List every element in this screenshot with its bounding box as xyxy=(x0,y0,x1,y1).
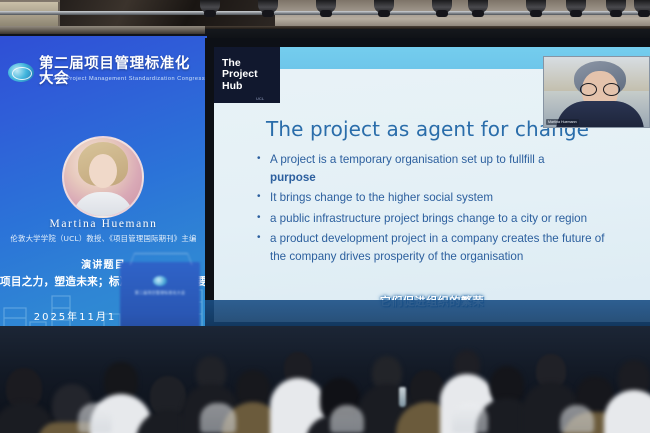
slide-bullet: a public infrastructure project brings c… xyxy=(270,210,606,228)
slide-bullet-emphasis: purpose xyxy=(270,171,316,184)
speaker-role: 伦敦大学学院（UCL）教授、《项目管理国际期刊》主编 xyxy=(0,233,207,244)
project-hub-logo: The Project Hub UCL xyxy=(214,47,280,103)
podium-label: 第二届项目管理标准化大会 xyxy=(120,290,200,296)
conference-room-photo: 第二届项目管理标准化大会 The 2nd Project Management … xyxy=(0,0,650,433)
spotlight-icon xyxy=(606,0,626,13)
participant-name-label: Martina Huemann xyxy=(546,119,579,125)
video-call-tile: Martina Huemann xyxy=(543,56,650,128)
audience-chair xyxy=(330,405,364,433)
spotlight-icon xyxy=(316,0,336,13)
spotlight-icon xyxy=(432,0,452,13)
audience-chair xyxy=(560,405,594,433)
spotlight-icon xyxy=(468,0,488,13)
projection-screen: The Project Hub UCL The project as agent… xyxy=(205,38,650,326)
spotlight-icon xyxy=(200,0,220,13)
spotlight-icon xyxy=(258,0,278,13)
congress-emblem-icon xyxy=(153,276,167,286)
water-bottle xyxy=(399,387,406,407)
slide-bullet: It brings change to the higher social sy… xyxy=(270,189,606,207)
speaker-portrait-icon xyxy=(62,136,144,218)
spotlight-icon xyxy=(566,0,586,13)
audience-chair xyxy=(200,403,236,433)
banner-header: 第二届项目管理标准化大会 xyxy=(8,56,200,88)
hub-line-3: Hub xyxy=(222,81,280,92)
presentation-slide: The Project Hub UCL The project as agent… xyxy=(214,47,650,322)
spotlight-icon xyxy=(526,0,546,13)
glasses-icon xyxy=(580,83,620,94)
spotlight-icon xyxy=(634,0,650,13)
slide-bullet: A project is a temporary organisation se… xyxy=(270,151,606,186)
banner-title-en: The 2nd Project Management Standardizati… xyxy=(40,76,207,82)
audience-chair xyxy=(78,403,112,433)
banner-title-cn: 第二届项目管理标准化大会 xyxy=(39,57,200,87)
audience-area xyxy=(0,326,650,433)
speaker-name: Martina Huemann xyxy=(0,218,207,230)
slide-bullet-list: A project is a temporary organisation se… xyxy=(256,151,606,269)
hub-line-2: Project xyxy=(222,69,280,80)
audience-chair xyxy=(452,403,488,433)
ucl-mark: UCL xyxy=(256,97,264,101)
slide-bullet: a product development project in a compa… xyxy=(270,230,606,265)
spotlight-icon xyxy=(374,0,394,13)
congress-emblem-icon xyxy=(8,63,34,82)
